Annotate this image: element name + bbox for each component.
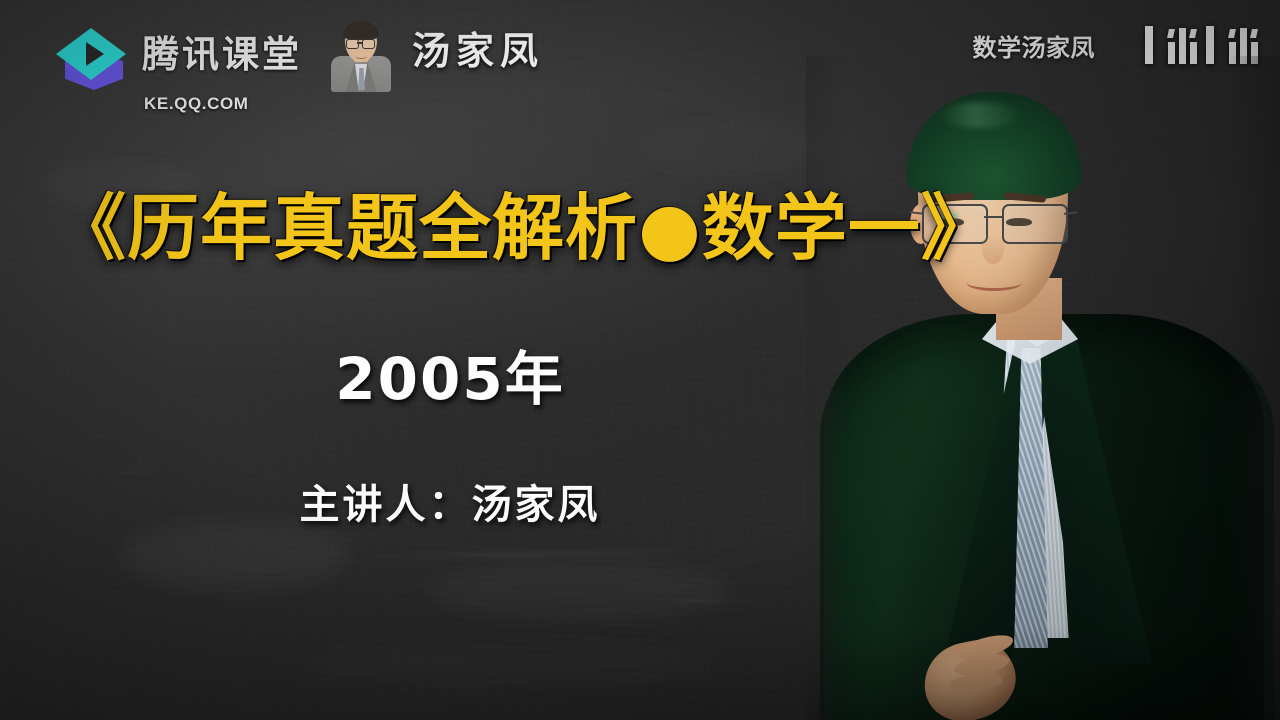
slide-year: 2005年 xyxy=(0,332,900,416)
brand-url: KE.QQ.COM xyxy=(144,94,249,114)
teacher-name: 汤家凤 xyxy=(412,20,544,75)
avatar-smile xyxy=(355,53,367,59)
presenter-lens-right xyxy=(1002,204,1068,244)
brand-name: 腾讯课堂 xyxy=(142,24,302,78)
graduation-cap-play-icon xyxy=(52,20,138,98)
brand-block: 腾讯课堂 KE.QQ.COM xyxy=(40,12,340,108)
presenter-mouth xyxy=(966,274,1022,291)
avatar-glasses-bridge xyxy=(357,42,362,44)
slide-presenter-line: 主讲人：汤家凤 xyxy=(0,472,900,530)
presenter-hair-highlight xyxy=(938,102,1022,128)
play-triangle-icon xyxy=(86,42,104,66)
presenter-glasses-temple-right xyxy=(1064,211,1078,215)
avatar-glasses-right xyxy=(362,39,375,49)
teacher-avatar-icon xyxy=(328,14,394,92)
avatar-glasses-left xyxy=(346,39,359,49)
video-frame: 腾讯课堂 KE.QQ.COM 汤家凤 数学汤家凤 xyxy=(0,0,1280,720)
page-title: 《历年真题全解析●数学一》 xyxy=(54,192,914,264)
avatar-hair xyxy=(343,21,379,40)
